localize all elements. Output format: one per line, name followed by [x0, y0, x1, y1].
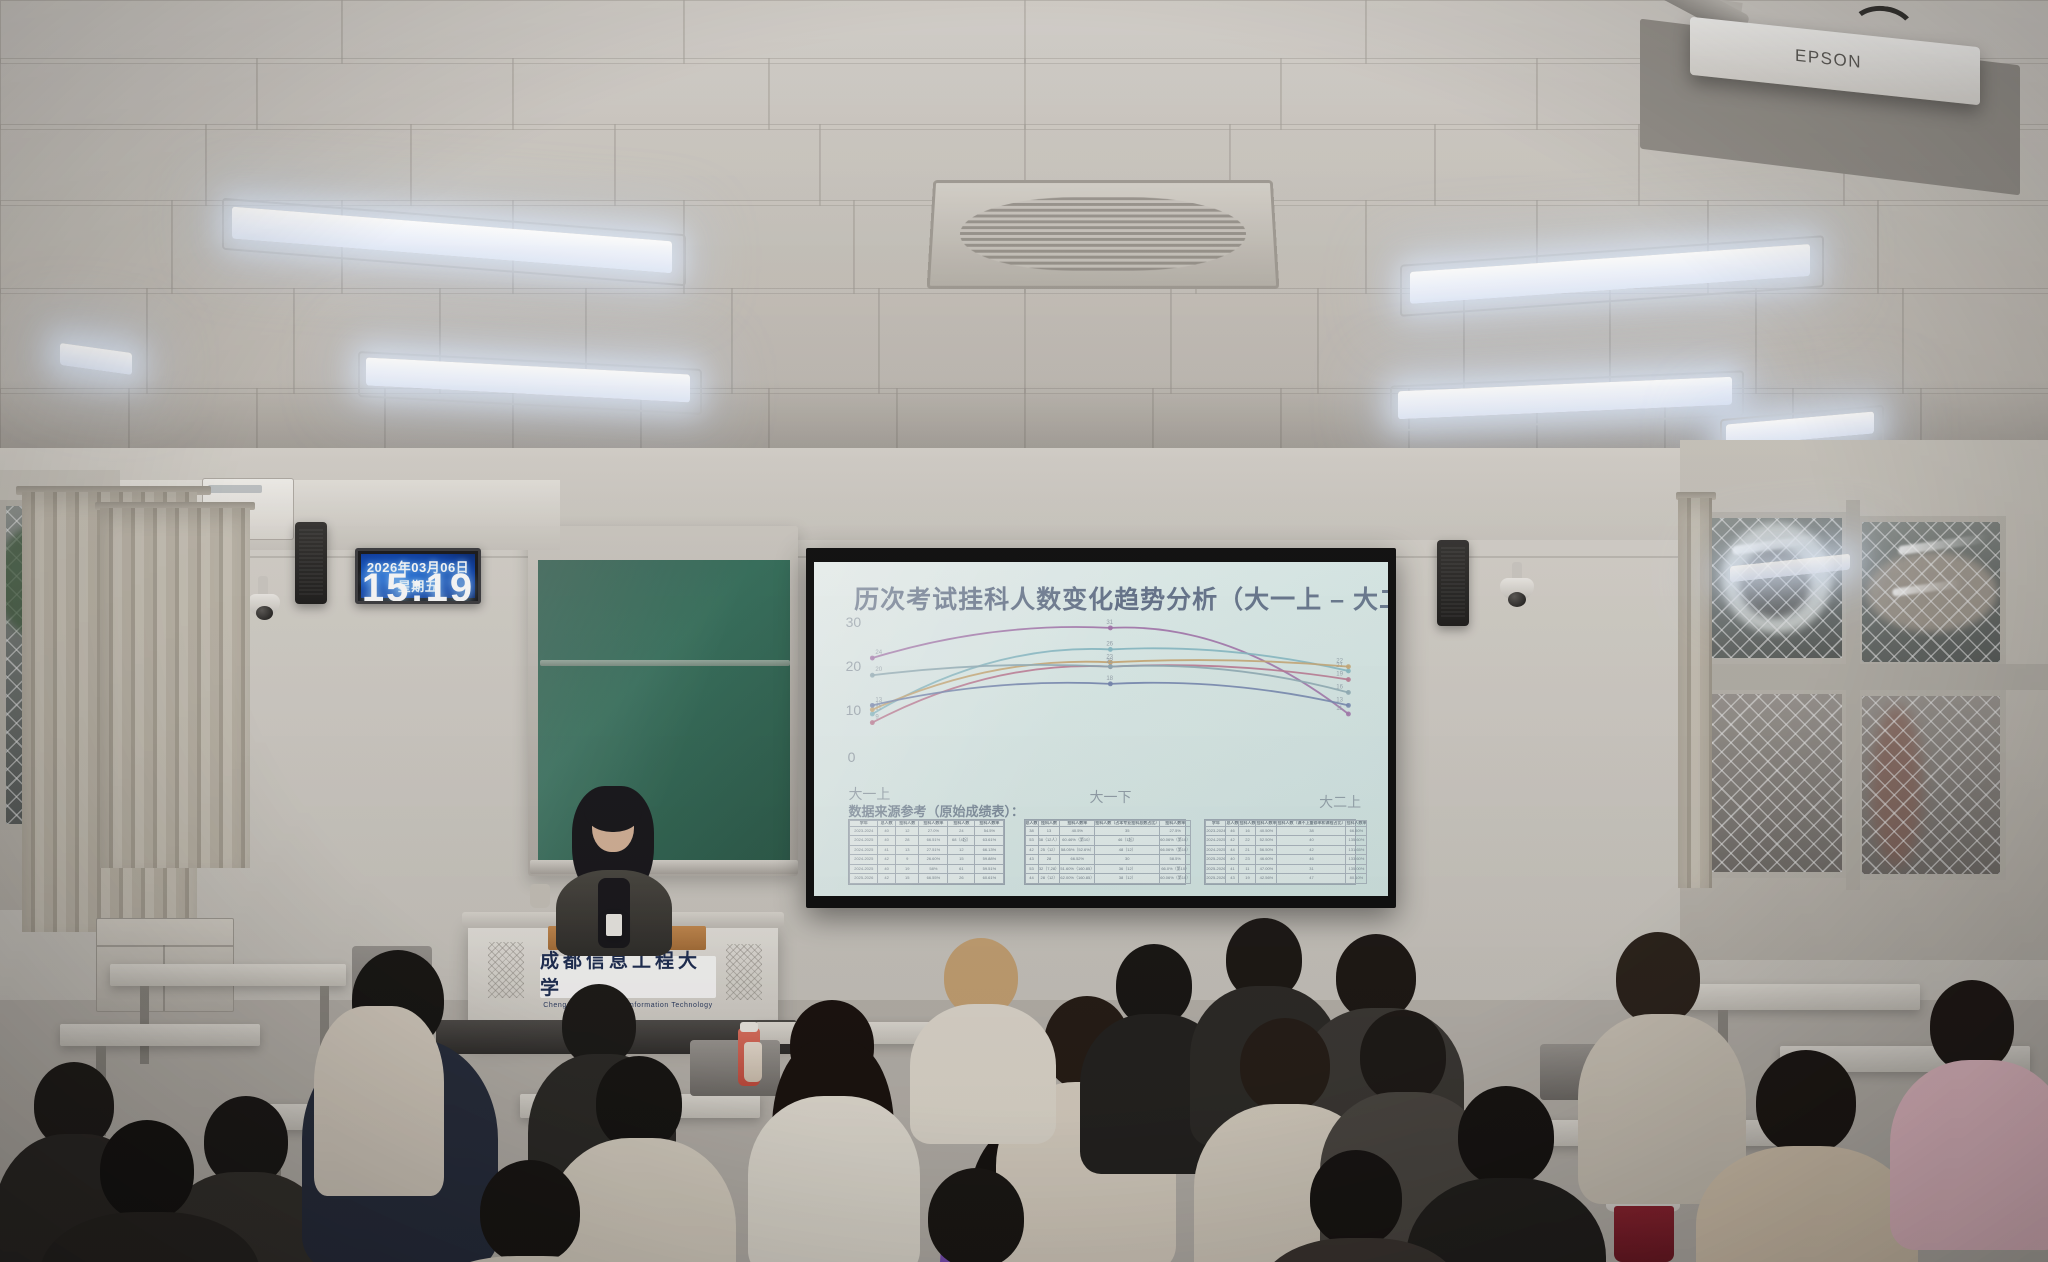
chart-point [1108, 664, 1113, 669]
table-row: 5338（12人）60.46%（第10）46（1起）60.06%（第10） [1025, 836, 1191, 846]
table-header-row: 总人数挂科人数挂科人数率挂科人数（占本专业挂科总数占比）挂科人数率 [1025, 821, 1191, 826]
table-row: 432866.52%3058.5% [1025, 855, 1191, 865]
chart-point [869, 673, 874, 678]
table-cell: 16 [1239, 826, 1256, 836]
table-cell: 58% [919, 864, 948, 874]
x-tick-2: 大一下 [1090, 787, 1132, 807]
table-cell: 40 [878, 836, 896, 846]
table-cell: 2024-2025 [1206, 845, 1226, 855]
table-row: 2025-2026431942.56%4780.10% [1206, 874, 1367, 884]
table-row: 2023-2024461640.50%3866.50% [1206, 826, 1367, 836]
chart-point [1108, 626, 1113, 631]
table-cell: 40.50% [1256, 826, 1277, 836]
presenter-hair-front [584, 788, 642, 832]
table-cell: 35 [1095, 826, 1160, 836]
student-21 [60, 1120, 240, 1262]
table-cell: 63.61% [975, 836, 1004, 846]
projection-screen-border: 历次考试挂科人数变化趋势分析（大一上 – 大二上） 30 20 10 0 243… [806, 548, 1396, 908]
table-cell: 66.50% [1346, 826, 1367, 836]
table-cell: 61 [948, 864, 975, 874]
table-cell: 44 [1226, 845, 1239, 855]
vent-louvers [958, 197, 1247, 271]
table-cell: 40 [1277, 836, 1346, 846]
table-row: 2025-2026411147.00%31135.00% [1206, 864, 1367, 874]
table-cell: 44 [1025, 874, 1038, 884]
curtain-left-2 [100, 508, 250, 868]
student-18 [1706, 1050, 1906, 1260]
student-body [420, 1256, 640, 1262]
ceiling-tile [512, 58, 770, 130]
table-cell: 68（4起） [948, 836, 975, 846]
table-cell: 13 [1038, 826, 1060, 836]
chart-point-label: 24 [875, 650, 882, 656]
table-row: 5332（7,28）51.60%（160.85）36（12）66.0%（第10） [1025, 864, 1191, 874]
table-header-cell: 挂科人数（课不上重修率和课程占比） [1277, 821, 1346, 826]
table-cell: 2025-2026 [1206, 855, 1226, 865]
table-cell: 47.00% [1256, 864, 1277, 874]
table-cell: 27.5% [1160, 826, 1191, 836]
table-cell: 19 [896, 864, 919, 874]
table-cell: 15 [948, 855, 975, 865]
chart-point [1346, 690, 1351, 695]
source-table-3: 学年总人数挂科人数挂科人数率挂科人数（课不上重修率和课程占比）挂科人数率2023… [1204, 819, 1355, 884]
table-cell: 48（12） [1095, 845, 1160, 855]
chart-point [1346, 669, 1351, 674]
student-body [314, 1006, 444, 1196]
wall-speaker-right [1437, 540, 1469, 626]
table-cell: 12 [896, 826, 919, 836]
ceiling-tile [1434, 124, 1641, 206]
equipment-box-label [208, 485, 262, 493]
table-cell: 2024-2025 [850, 836, 878, 846]
presenter-cup [530, 884, 550, 908]
camera-lens-left [256, 606, 273, 620]
table-cell: 2024-2025 [1206, 836, 1226, 846]
table-cell: 40.5% [1060, 826, 1095, 836]
table-cell: 60.46%（第10） [1060, 836, 1095, 846]
ceiling-tile [0, 200, 173, 294]
drink-cup [1614, 1206, 1674, 1262]
presenter-badge [606, 914, 622, 936]
chart-point [869, 712, 874, 717]
table-row: 4428（12）62.00%（160.85）38（12）60.06%（第10） [1025, 874, 1191, 884]
table-cell: 38（12人） [1038, 836, 1060, 846]
right-window-upper-1 [1706, 512, 1848, 664]
table-row: 2024-2025411327.51%1266.13% [850, 845, 1004, 855]
classroom-photo: EPSON 2026年03月06日 星期五 15:19 [0, 0, 2048, 1262]
ceiling-tile [1280, 58, 1538, 130]
table-cell: 23 [1239, 855, 1256, 865]
window-mesh-grille-4 [1862, 696, 2000, 874]
table-row: 2024-2025402866.51%68（4起）63.61% [850, 836, 1004, 846]
blackboard-mid-rail [540, 660, 790, 666]
table-row: 2023-2024401227.0%2454.5% [850, 826, 1004, 836]
table-row: 2024-2025422252.50%40135.60% [1206, 836, 1367, 846]
ceiling-tile [683, 200, 856, 294]
chart-point-label: 16 [1336, 685, 1343, 691]
ceiling-tile [1170, 288, 1318, 394]
table-cell: 42 [1226, 836, 1239, 846]
table-header-cell: 挂科人数率 [1256, 821, 1277, 826]
student-head [1310, 1150, 1402, 1246]
ceiling-tile [1024, 288, 1172, 394]
student-body [1260, 1238, 1460, 1262]
table-cell: 28（12） [1038, 874, 1060, 884]
ceiling-tile [0, 0, 343, 64]
student-head [1240, 1018, 1330, 1112]
table-cell: 41 [1226, 864, 1239, 874]
presenter [548, 786, 678, 936]
student-head [100, 1120, 194, 1220]
table-cell: 46 [1226, 826, 1239, 836]
right-window-upper-2 [1856, 516, 2006, 668]
window-mesh-grille-3 [1712, 694, 1842, 872]
table-cell: 52.50% [1256, 836, 1277, 846]
student-4 [314, 966, 434, 1126]
table-cell: 42 [1277, 845, 1346, 855]
led-clock-display: 2026年03月06日 星期五 15:19 [355, 548, 481, 604]
ceiling-tile [1024, 0, 1367, 64]
chart-point [1346, 664, 1351, 669]
chart-point-label: 31 [1106, 620, 1113, 626]
ceiling-tile [1877, 200, 2048, 294]
tables-caption: 数据来源参考（原始成绩表）： [848, 801, 1024, 820]
table-cell: 12 [948, 845, 975, 855]
table-cell: 42 [1025, 845, 1038, 855]
chart-line-series-4 [872, 665, 1348, 722]
table-cell: 2025-2026 [1206, 864, 1226, 874]
table-cell: 47 [1277, 874, 1346, 884]
table-cell: 31 [1277, 864, 1346, 874]
table-row: 2024-2025401958%6159.51% [850, 864, 1004, 874]
ceiling-tile [0, 58, 258, 130]
ceiling-tile [683, 0, 1026, 64]
bottle-cap-1 [740, 1022, 758, 1032]
table-cell: 2023-2024 [850, 826, 878, 836]
table-cell: 59.51% [975, 864, 1004, 874]
table-cell: 62.00%（160.85） [1060, 874, 1095, 884]
table-cell: 66.52% [1060, 855, 1095, 865]
table-cell: 28 [896, 836, 919, 846]
window-mullion-horizontal [1690, 664, 2048, 690]
table-cell: 2025-2026 [1206, 874, 1226, 884]
student-head [596, 1056, 682, 1150]
table-cell: 58.05%（52.6%） [1060, 845, 1095, 855]
table-cell: 60.06%（第10） [1160, 836, 1191, 846]
chart-point-label: 13 [1336, 697, 1343, 703]
curtain-right [1678, 498, 1712, 888]
chart-point [869, 720, 874, 725]
table-header-row: 学年总人数挂科人数挂科人数率挂科人数（课不上重修率和课程占比）挂科人数率 [1206, 821, 1367, 826]
chart-point-label: 18 [1106, 676, 1113, 682]
chart-point [1346, 712, 1351, 717]
table-cell: 26.60% [919, 855, 948, 865]
table-cell: 28 [1038, 855, 1060, 865]
chart-point [1346, 703, 1351, 708]
chart-point-label: 22 [1336, 659, 1343, 665]
table-cell: 21 [1239, 845, 1256, 855]
student-19 [1900, 980, 2048, 1180]
podium-decor-left [488, 942, 524, 998]
table-cell: 42 [878, 855, 896, 865]
table-cell: 32（7,28） [1038, 864, 1060, 874]
podium-decor-right [726, 944, 762, 1000]
student-22 [430, 1160, 630, 1262]
wall-speaker-left [295, 522, 327, 604]
clock-time: 15:19 [361, 568, 475, 604]
chart-point [869, 703, 874, 708]
side-table [110, 964, 346, 986]
chart-point [1108, 682, 1113, 687]
source-table-1: 学年总人数挂科人数挂科人数率挂科人数挂科人数率2023-2024401227.0… [848, 819, 1005, 884]
table-cell: 40 [878, 826, 896, 836]
ceiling-tile [731, 288, 879, 394]
table-cell: 40 [1226, 855, 1239, 865]
table-cell: 43 [1226, 874, 1239, 884]
table-row: 381340.5%3527.5% [1025, 826, 1191, 836]
table-cell: 19 [1239, 874, 1256, 884]
student-20 [1270, 1150, 1450, 1262]
student-head [928, 1168, 1024, 1262]
table-cell: 46.60% [1256, 855, 1277, 865]
ceiling-air-vent [927, 180, 1280, 289]
ceiling-tile [878, 288, 1026, 394]
table-cell: 38（12） [1095, 874, 1160, 884]
student-10 [918, 938, 1046, 1088]
table-cell: 66.55% [919, 874, 948, 884]
chart-point [869, 656, 874, 661]
chart-point-label: 20 [875, 667, 882, 673]
table-cell: 46 [1277, 855, 1346, 865]
chart-point-label: 22 [1106, 659, 1113, 665]
projection-screen: 历次考试挂科人数变化趋势分析（大一上 – 大二上） 30 20 10 0 243… [814, 562, 1388, 896]
source-table-2: 总人数挂科人数挂科人数率挂科人数（占本专业挂科总数占比）挂科人数率381340.… [1024, 819, 1187, 884]
table-cell: 66.0%（第10） [1160, 864, 1191, 874]
ceiling-tile [1755, 288, 1903, 394]
table-cell: 51.60%（160.85） [1060, 864, 1095, 874]
table-cell: 66.06%（第10） [1160, 845, 1191, 855]
chart-point-label: 19 [1336, 672, 1343, 678]
ceiling-tile [146, 288, 294, 394]
projector-brand-label: EPSON [1795, 46, 1862, 73]
ceiling-tile [410, 124, 617, 206]
table-cell: 30 [1095, 855, 1160, 865]
table-header-cell: 挂科人数率 [1346, 821, 1367, 826]
table-cell: 27.51% [919, 845, 948, 855]
table-cell: 22 [1239, 836, 1256, 846]
table-cell: 46（1起） [1095, 836, 1160, 846]
ceiling-tile [768, 58, 1026, 130]
ceiling-tile [341, 0, 684, 64]
cabinet-seam [97, 945, 233, 947]
table-cell: 131.65% [1346, 845, 1367, 855]
table-cell: 40 [878, 864, 896, 874]
clock-screen: 2026年03月06日 星期五 15:19 [361, 554, 475, 598]
table-header-cell: 挂科人数 [1038, 821, 1060, 826]
table-cell: 2023-2024 [1206, 826, 1226, 836]
table-cell: 42 [878, 874, 896, 884]
table-cell: 41 [878, 845, 896, 855]
table-cell: 2025-2026 [850, 874, 878, 884]
student-head [1458, 1086, 1554, 1186]
table-cell: 53 [1025, 864, 1038, 874]
ceiling-tile [256, 58, 514, 130]
table-cell: 15 [896, 874, 919, 884]
table-cell: 36（12） [1095, 864, 1160, 874]
table-cell: 42.56% [1256, 874, 1277, 884]
student-body [1890, 1060, 2048, 1250]
chart-point [1108, 647, 1113, 652]
table-cell: 43 [1025, 855, 1038, 865]
table-cell: 38 [1277, 826, 1346, 836]
table-cell: 26 [948, 874, 975, 884]
table-row: 2025-2026402346.60%46133.60% [1206, 855, 1367, 865]
chart-point-label: 11 [1336, 706, 1343, 712]
student-23 [880, 1168, 1070, 1262]
table-cell: 24 [948, 826, 975, 836]
camera-lens-right [1508, 592, 1526, 607]
student-body [40, 1212, 260, 1262]
table-cell: 25（12） [1038, 845, 1060, 855]
table-cell: 38 [1025, 826, 1038, 836]
student-head [1756, 1050, 1856, 1154]
table-row: 2025-2026421566.55%2660.61% [850, 874, 1004, 884]
presenter-inner-top [598, 878, 630, 948]
chart-point [1346, 677, 1351, 682]
table-header-cell: 挂科人数 [1239, 821, 1256, 826]
slide-title: 历次考试挂科人数变化趋势分析（大一上 – 大二上） [854, 580, 1388, 616]
table-cell: 135.60% [1346, 836, 1367, 846]
table-cell: 66.51% [919, 836, 948, 846]
table-cell: 54.5% [975, 826, 1004, 836]
table-cell: 80.10% [1346, 874, 1367, 884]
line-chart: 30 20 10 0 24311111262112232292219202216… [846, 612, 1363, 779]
table-row: 2024-202542926.60%1559.88% [850, 855, 1004, 865]
table-cell: 11 [1239, 864, 1256, 874]
table-cell: 2024-2025 [850, 855, 878, 865]
table-header-cell: 挂科人数（占本专业挂科总数占比） [1095, 821, 1160, 826]
chart-point-label: 26 [1106, 641, 1113, 647]
table-row: 4225（12）58.05%（52.6%）48（12）66.06%（第10） [1025, 845, 1191, 855]
right-window-lower-2 [1856, 690, 2006, 880]
student-body [910, 1004, 1056, 1144]
ceiling-tile [1902, 288, 2048, 394]
table-cell: 2024-2025 [850, 845, 878, 855]
table-cell: 2024-2025 [850, 864, 878, 874]
student-body [1696, 1146, 1918, 1262]
ceiling-tile [1024, 58, 1282, 130]
table-cell: 9 [896, 855, 919, 865]
table-cell: 58.5% [1160, 855, 1191, 865]
ceiling-tile [205, 124, 412, 206]
table-cell: 60.06%（第10） [1160, 874, 1191, 884]
table-header-cell: 总人数 [1226, 821, 1239, 826]
ceiling-tile [614, 124, 821, 206]
table-cell: 13 [896, 845, 919, 855]
right-window-lower-1 [1706, 688, 1848, 878]
student-head [1930, 980, 2014, 1072]
student-head [480, 1160, 580, 1262]
student-head [1616, 932, 1700, 1024]
table-cell: 27.0% [919, 826, 948, 836]
desk-row-1-left [60, 1024, 260, 1046]
ceiling-tile [0, 124, 207, 206]
table-cell: 60.61% [975, 874, 1004, 884]
table-cell: 135.00% [1346, 864, 1367, 874]
chart-point-label: 13 [875, 697, 882, 703]
table-cell: 53 [1025, 836, 1038, 846]
table-header-cell: 总人数 [1025, 821, 1038, 826]
table-cell: 133.60% [1346, 855, 1367, 865]
table-cell: 59.88% [975, 855, 1004, 865]
ceiling-tile [0, 288, 148, 394]
table-row: 2024-2025442156.50%42131.65% [1206, 845, 1367, 855]
x-tick-3: 大二上 [1319, 792, 1361, 812]
table-cell: 56.50% [1256, 845, 1277, 855]
chart-point [869, 707, 874, 712]
table-cell: 66.13% [975, 845, 1004, 855]
